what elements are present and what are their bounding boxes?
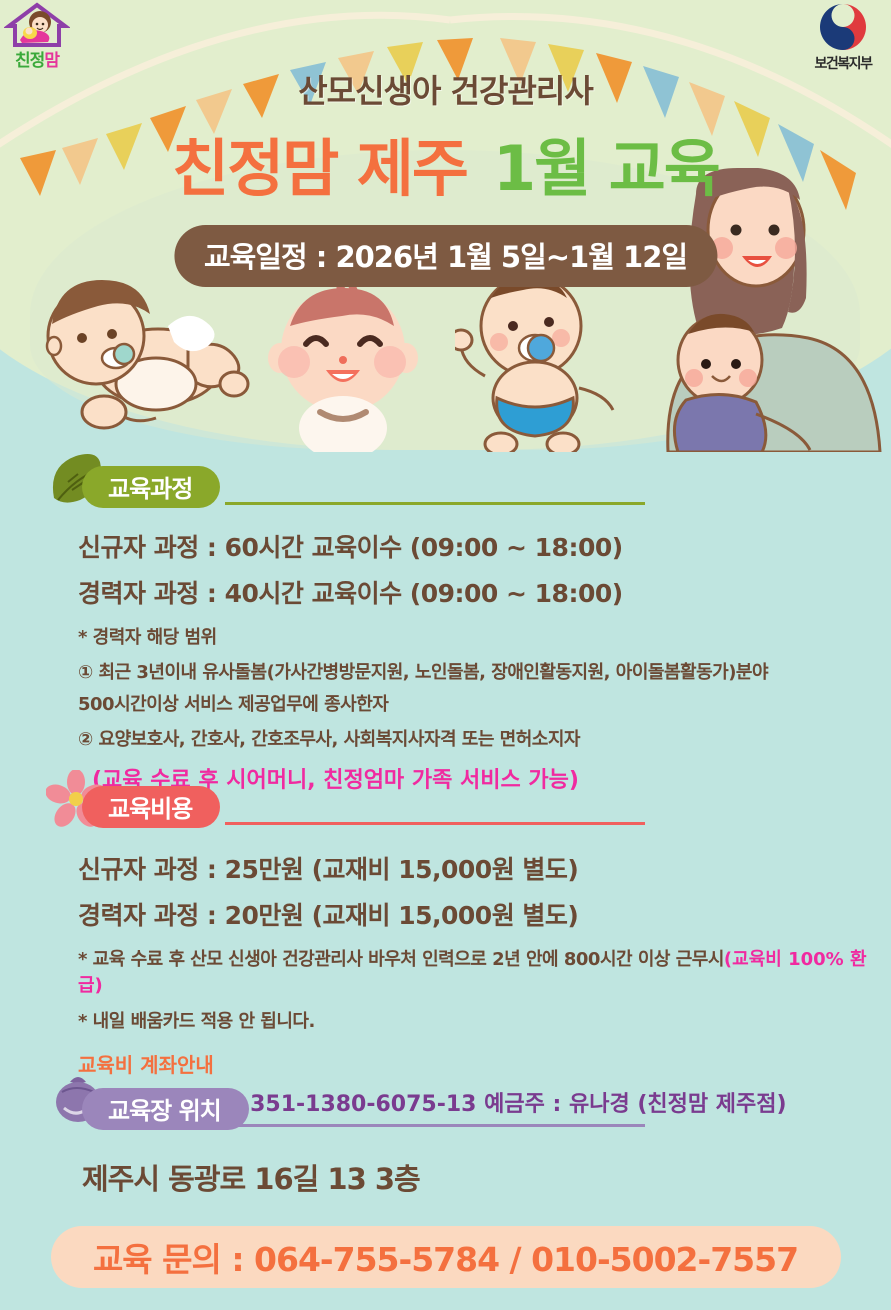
contact-text: 교육 문의 : 064-755-5784 / 010-5002-7557 [93, 1233, 798, 1281]
hero-section: 친정맘 보건복지부 산모신생아 건강관리사 친정맘 제주1월 교육 교육일정 :… [0, 0, 891, 452]
section-rule-tuition [225, 822, 645, 825]
curriculum-note-item1: ① 최근 3년이내 유사돌봄(가사간병방문지원, 노인돌봄, 장애인활동지원, … [78, 658, 891, 684]
section-rule-curriculum [225, 502, 645, 505]
curriculum-line-1: 신규자 과정 : 60시간 교육이수 (09:00 ~ 18:00) [78, 528, 891, 564]
training-center-address: 제주시 동광로 16길 13 3층 [82, 1156, 891, 1198]
curriculum-note-item2: ② 요양보호사, 간호사, 간호조무사, 사회복지사자격 또는 면허소지자 [78, 725, 891, 751]
section-curriculum: 교육과정 신규자 과정 : 60시간 교육이수 (09:00 ~ 18:00) … [0, 466, 891, 794]
logo-left-text: 친정맘 [4, 46, 70, 71]
section-pill-tuition: 교육비용 [82, 786, 220, 828]
schedule-banner: 교육일정 : 2026년 1월 5일~1월 12일 [174, 225, 717, 287]
baby-blue-diaper-illustration [455, 268, 630, 452]
curriculum-note-title: * 경력자 해당 범위 [78, 623, 891, 649]
tuition-note-1: * 교육 수료 후 산모 신생아 건강관리사 바우처 인력으로 2년 안에 80… [78, 945, 891, 997]
korea-government-taegeuk-icon [816, 2, 870, 52]
contact-banner[interactable]: 교육 문의 : 064-755-5784 / 010-5002-7557 [51, 1226, 841, 1288]
tuition-line-1: 신규자 과정 : 25만원 (교재비 15,000원 별도) [78, 850, 891, 886]
baby-lying-illustration [38, 262, 253, 447]
curriculum-note-item1-cont: 500시간이상 서비스 제공업무에 종사한자 [78, 690, 891, 716]
poster-title: 친정맘 제주1월 교육 [0, 118, 891, 208]
poster-title-orange: 친정맘 제주 [172, 132, 467, 205]
section-pill-location: 교육장 위치 [82, 1088, 249, 1130]
poster-root: 친정맘 보건복지부 산모신생아 건강관리사 친정맘 제주1월 교육 교육일정 :… [0, 0, 891, 1310]
smiling-baby-face-illustration [258, 278, 428, 452]
mohw-logo: 보건복지부 [801, 2, 885, 76]
tuition-line-2: 경력자 과정 : 20만원 (교재비 15,000원 별도) [78, 896, 891, 932]
account-info-title: 교육비 계좌안내 [78, 1049, 891, 1078]
tuition-note-1-text: * 교육 수료 후 산모 신생아 건강관리사 바우처 인력으로 2년 안에 80… [78, 949, 724, 970]
tuition-note-2: * 내일 배움카드 적용 안 됩니다. [78, 1007, 891, 1033]
poster-subtitle: 산모신생아 건강관리사 [0, 66, 891, 112]
mohw-label: 보건복지부 [801, 53, 885, 73]
chinjeongmam-logo: 친정맘 [4, 2, 70, 74]
mother-holding-baby-illustration [660, 168, 891, 452]
curriculum-line-2: 경력자 과정 : 40시간 교육이수 (09:00 ~ 18:00) [78, 574, 891, 610]
section-rule-location [225, 1124, 645, 1127]
poster-title-green: 1월 교육 [493, 132, 719, 205]
section-pill-curriculum: 교육과정 [82, 466, 220, 508]
section-location: 교육장 위치 제주시 동광로 16길 13 3층 [0, 1088, 891, 1198]
section-tuition: 교육비용 신규자 과정 : 25만원 (교재비 15,000원 별도) 경력자 … [0, 786, 891, 1118]
house-mother-baby-icon [4, 2, 70, 48]
